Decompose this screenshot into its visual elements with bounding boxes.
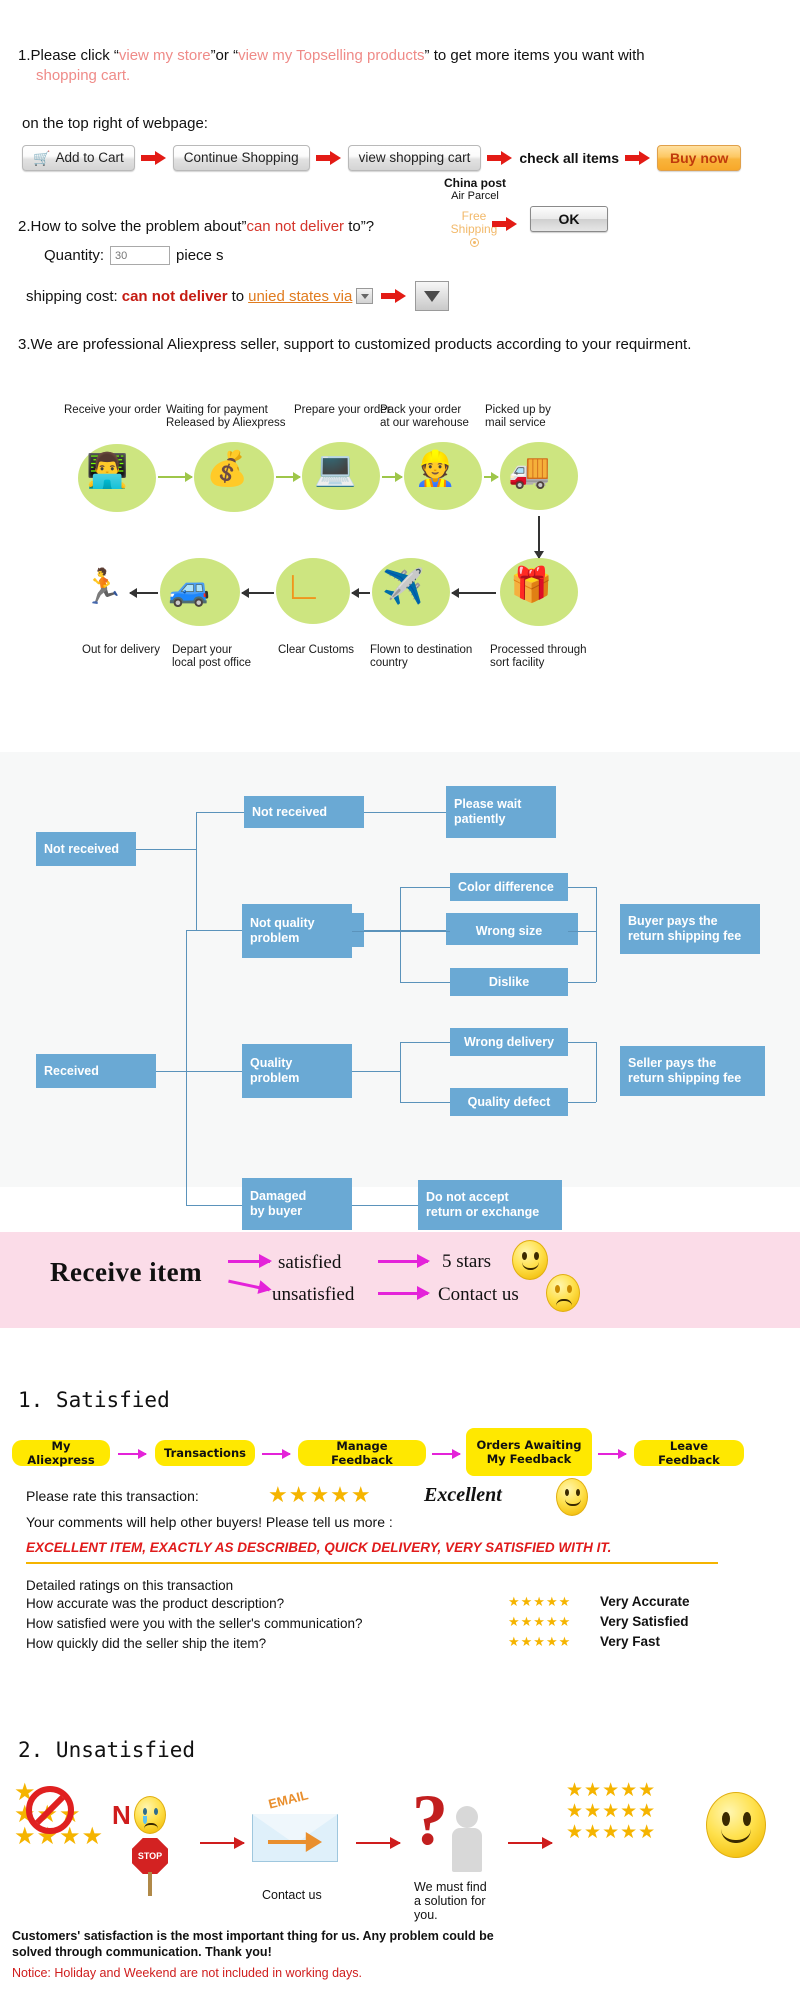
satisfied-label: satisfied [278, 1252, 341, 1274]
detail-verdict: Very Satisfied [600, 1614, 689, 1629]
eye-left [555, 1285, 560, 1293]
flowchart-branch-damaged-by-buyer: Damaged by buyer [242, 1178, 352, 1230]
magenta-arrow-icon [262, 1453, 290, 1455]
connector-line [352, 1071, 400, 1072]
instr1-text-c: ” to get more items you want with [425, 47, 645, 64]
flow-arrow-icon [382, 476, 402, 478]
connector-line [400, 1042, 450, 1043]
view-my-store-link[interactable]: view my store [119, 47, 211, 64]
unsatisfied-heading: 2. Unsatisfied [18, 1738, 195, 1762]
shipping-cost-label: shipping cost: [26, 288, 118, 305]
flow-step-caption: Clear Customs [278, 644, 383, 657]
flowchart-reason-color-difference: Color difference [450, 873, 568, 901]
parcel-sort-icon: 🎁 [510, 568, 552, 602]
flowchart-result-buyer-pays: Buyer pays the return shipping fee [620, 904, 760, 954]
connector-line [400, 931, 450, 932]
destination-select-value[interactable]: unied states via [248, 288, 352, 305]
return-policy-flowchart: Not received Not received Returned/Lost … [0, 752, 800, 1187]
big-happy-face-icon [706, 1792, 766, 1858]
mouth-smile [565, 1499, 581, 1506]
comment-text[interactable]: EXCELLENT ITEM, EXACTLY AS DESCRIBED, QU… [26, 1540, 611, 1555]
magenta-arrow-icon [228, 1280, 270, 1292]
detail-stars: ★★★★★ [508, 1614, 571, 1630]
eye-right [154, 1808, 158, 1815]
connector-line [568, 1042, 596, 1043]
carrier-name: China post [420, 176, 530, 190]
flow-arrow-icon [242, 592, 274, 594]
comments-prompt: Your comments will help other buyers! Pl… [26, 1514, 393, 1530]
flowchart-reason-wrong-delivery: Wrong delivery [450, 1028, 568, 1056]
satisfaction-note: Customers' satisfaction is the most impo… [12, 1928, 512, 1960]
connector-line [400, 1102, 450, 1103]
connector-line [400, 1042, 401, 1102]
view-shopping-cart-label: view shopping cart [359, 150, 471, 166]
magenta-arrow-icon [378, 1292, 428, 1295]
flowchart-result-seller-pays: Seller pays the return shipping fee [620, 1046, 765, 1096]
connector-line [364, 812, 446, 813]
eye-right [743, 1812, 751, 1826]
buy-now-label: Buy now [670, 150, 728, 166]
instruction-line-2: shopping cart. [36, 67, 130, 84]
arrow-right-icon [492, 217, 518, 231]
checkout-button-row: 🛒 Add to Cart Continue Shopping view sho… [22, 145, 741, 171]
stop-sign-post [148, 1872, 152, 1896]
monitor-box-icon: 💻 [314, 452, 356, 486]
eye-left [722, 1812, 730, 1826]
connector-line [352, 931, 400, 932]
red-arrow-icon [356, 1842, 400, 1844]
ok-label: OK [559, 211, 580, 227]
step-orders-awaiting-my-feedback[interactable]: Orders Awaiting My Feedback [466, 1428, 592, 1476]
section2-head-a: 2.How to solve the problem about” [18, 218, 246, 235]
connector-line [352, 1205, 418, 1206]
step-manage-feedback[interactable]: Manage Feedback [298, 1440, 426, 1466]
step-my-aliexpress[interactable]: My Aliexpress [12, 1440, 110, 1466]
magenta-arrow-icon [228, 1260, 270, 1263]
view-topselling-products-link[interactable]: view my Topselling products [238, 47, 424, 64]
flowchart-reason-dislike: Dislike [450, 968, 568, 996]
flowchart-branch-quality-problem: Quality problem [242, 1044, 352, 1098]
chevron-down-icon [361, 294, 369, 299]
holiday-notice: Notice: Holiday and Weekend are not incl… [12, 1966, 362, 1980]
flow-arrow-icon [352, 592, 370, 594]
person-body-icon [452, 1828, 482, 1872]
flow-step-caption: Waiting for payment Released by Aliexpre… [166, 404, 296, 430]
worker-boxes-icon: 👷 [414, 452, 456, 486]
ok-button[interactable]: OK [530, 206, 608, 232]
check-all-items-label: check all items [519, 150, 619, 166]
magenta-arrow-icon [118, 1453, 146, 1455]
connector-line [156, 1071, 186, 1072]
mouth-frown [556, 1299, 572, 1306]
detail-verdict: Very Accurate [600, 1594, 690, 1609]
connector-line [186, 930, 242, 931]
quantity-input[interactable]: 30 [110, 246, 170, 265]
eye-right [576, 1489, 580, 1496]
eye-right [534, 1252, 539, 1260]
connector-line [568, 1102, 596, 1103]
flow-arrow-icon [484, 476, 498, 478]
arrow-right-icon [141, 151, 167, 165]
delivery-truck-icon: 🚚 [508, 454, 550, 488]
connector-line [568, 982, 596, 983]
flow-arrow-icon [130, 592, 158, 594]
receive-item-title: Receive item [50, 1257, 202, 1288]
flow-step-caption: Receive your order [64, 404, 174, 417]
flow-step-caption: Flown to destination country [370, 644, 480, 670]
stop-sign-icon: STOP [132, 1838, 168, 1874]
happy-face-icon [556, 1478, 588, 1516]
instr1-text-b: ”or “ [211, 47, 239, 64]
shipping-method-dropdown-toggle[interactable] [415, 281, 449, 311]
chevron-down-icon [424, 291, 440, 302]
rate-transaction-label: Please rate this transaction: [26, 1488, 199, 1504]
info-circle-icon [470, 238, 479, 247]
detail-stars: ★★★★★ [508, 1634, 571, 1650]
solution-caption: We must find a solution for you. [414, 1880, 487, 1922]
detail-stars: ★★★★★ [508, 1594, 571, 1610]
red-arrow-icon [200, 1842, 244, 1844]
connector-line [400, 887, 401, 982]
airplane-icon: ✈️ [382, 570, 424, 604]
unsatisfied-label: unsatisfied [272, 1284, 354, 1306]
connector-line [568, 887, 596, 888]
connector-line [568, 931, 596, 932]
arrow-right-icon [316, 151, 342, 165]
connector-line [186, 930, 187, 1205]
flowchart-reason-quality-defect: Quality defect [450, 1088, 568, 1116]
eye-left [565, 1489, 569, 1496]
instruction-line-3: on the top right of webpage: [22, 115, 208, 132]
shopping-cart-icon: 🛒 [33, 150, 50, 166]
stop-label: STOP [138, 1851, 162, 1861]
mouth-smile [522, 1262, 539, 1270]
rating-stars[interactable]: ★★★★★ [268, 1482, 372, 1508]
flow-arrow-icon [276, 476, 300, 478]
detail-verdict: Very Fast [600, 1634, 660, 1649]
email-envelope-icon [252, 1800, 338, 1862]
quantity-label: Quantity: [44, 247, 104, 264]
step-leave-feedback[interactable]: Leave Feedback [634, 1440, 744, 1466]
magenta-arrow-icon [378, 1260, 428, 1263]
step-transactions[interactable]: Transactions [155, 1440, 255, 1466]
contact-us-caption: Contact us [262, 1888, 322, 1902]
connector-line [400, 982, 450, 983]
computer-user-icon: 👨‍💻 [86, 454, 128, 488]
connector-line [400, 887, 450, 888]
postman-running-icon: 🏃 [82, 570, 124, 604]
rating-word: Excellent [424, 1484, 502, 1507]
person-head-icon [456, 1806, 478, 1828]
flowchart-branch-not-quality-problem: Not quality problem [242, 904, 352, 958]
eye-right [567, 1285, 572, 1293]
flow-step-caption: Processed through sort facility [490, 644, 600, 670]
section2-head-b: to”? [344, 218, 374, 235]
detailed-ratings-heading: Detailed ratings on this transaction [26, 1578, 233, 1593]
flow-arrow-icon [452, 592, 496, 594]
section3-heading: 3.We are professional Aliexpress seller,… [18, 336, 691, 353]
eye-left [143, 1808, 147, 1815]
connector-line [196, 812, 197, 930]
happy-face-icon [512, 1240, 548, 1280]
detail-question: How accurate was the product description… [26, 1596, 284, 1611]
connector-line [186, 1205, 242, 1206]
carrier-service: Air Parcel [420, 190, 530, 202]
to-text: to [232, 288, 245, 305]
sad-face-icon [546, 1274, 580, 1312]
underline-rule [26, 1562, 718, 1564]
flow-step-caption: Picked up by mail service [485, 404, 585, 430]
continue-shopping-button[interactable]: Continue Shopping [173, 145, 310, 171]
flow-down-arrow-icon [538, 516, 540, 558]
arrow-right-icon [625, 151, 651, 165]
carrier-label: China post Air Parcel [420, 176, 530, 202]
shipping-cost-row: shipping cost:can not deliver to unied s… [26, 281, 449, 311]
flowchart-root-received: Received [36, 1054, 156, 1088]
buy-now-button[interactable]: Buy now [657, 145, 741, 171]
add-to-cart-label: Add to Cart [55, 150, 123, 166]
flowchart-result-no-return: Do not accept return or exchange [418, 1180, 562, 1230]
question-mark-icon: ? [412, 1784, 448, 1856]
connector-line [136, 849, 196, 850]
detail-question: How quickly did the seller ship the item… [26, 1636, 266, 1651]
five-stars-label: 5 stars [442, 1251, 491, 1273]
flow-step-caption: Pack your order at our warehouse [380, 404, 490, 430]
detail-question: How satisfied were you with the seller's… [26, 1616, 362, 1631]
mouth-frown [144, 1823, 158, 1829]
section2-heading: 2.How to solve the problem about”can not… [18, 218, 374, 235]
mouth-smile [721, 1829, 751, 1843]
instr1-text-a: 1.Please click “ [18, 47, 119, 64]
receive-item-band: Receive item satisfied unsatisfied 5 sta… [0, 1232, 800, 1328]
connector-line [186, 1071, 242, 1072]
post-van-icon: 🚙 [168, 572, 210, 606]
magenta-arrow-icon [598, 1453, 626, 1455]
view-shopping-cart-button[interactable]: view shopping cart [348, 145, 482, 171]
instruction-line-1: 1.Please click “view my store”or “view m… [18, 47, 645, 64]
contact-us-label: Contact us [438, 1284, 519, 1306]
cannot-deliver-text: can not deliver [122, 288, 228, 305]
magenta-arrow-icon [432, 1453, 460, 1455]
satisfied-heading: 1. Satisfied [18, 1388, 170, 1412]
prohibition-icon [26, 1786, 74, 1834]
quantity-row: Quantity: 30 piece s [44, 246, 224, 265]
no-letter: N [112, 1800, 131, 1831]
connector-line [596, 887, 597, 982]
section2-head-red: can not deliver [246, 218, 344, 235]
flowchart-root-not-received: Not received [36, 832, 136, 866]
flow-arrow-icon [158, 476, 192, 478]
add-to-cart-button[interactable]: 🛒 Add to Cart [22, 145, 135, 171]
flowchart-result-please-wait: Please wait patiently [446, 786, 556, 838]
eye-left [522, 1252, 527, 1260]
continue-shopping-label: Continue Shopping [184, 150, 299, 166]
arrow-right-icon [381, 289, 407, 303]
money-bag-icon: 💰 [206, 452, 248, 486]
flowchart-reason-wrong-size: Wrong size [450, 917, 568, 945]
red-arrow-icon [508, 1842, 552, 1844]
crying-face-icon [134, 1796, 166, 1834]
destination-dropdown-toggle[interactable] [356, 288, 373, 304]
arrow-right-icon [487, 151, 513, 165]
rating-stars-grid: ★★★★★★★★★★★★★★★ [566, 1780, 706, 1843]
quantity-unit-label: piece s [176, 247, 224, 264]
connector-line [596, 1042, 597, 1102]
shipping-flow-diagram: Receive your order Waiting for payment R… [0, 380, 800, 720]
connector-line [196, 812, 244, 813]
flow-step-caption: Depart your local post office [172, 644, 282, 670]
flowchart-branch-not-received: Not received [244, 796, 364, 828]
customs-stamp-icon: ∟ [284, 566, 323, 606]
